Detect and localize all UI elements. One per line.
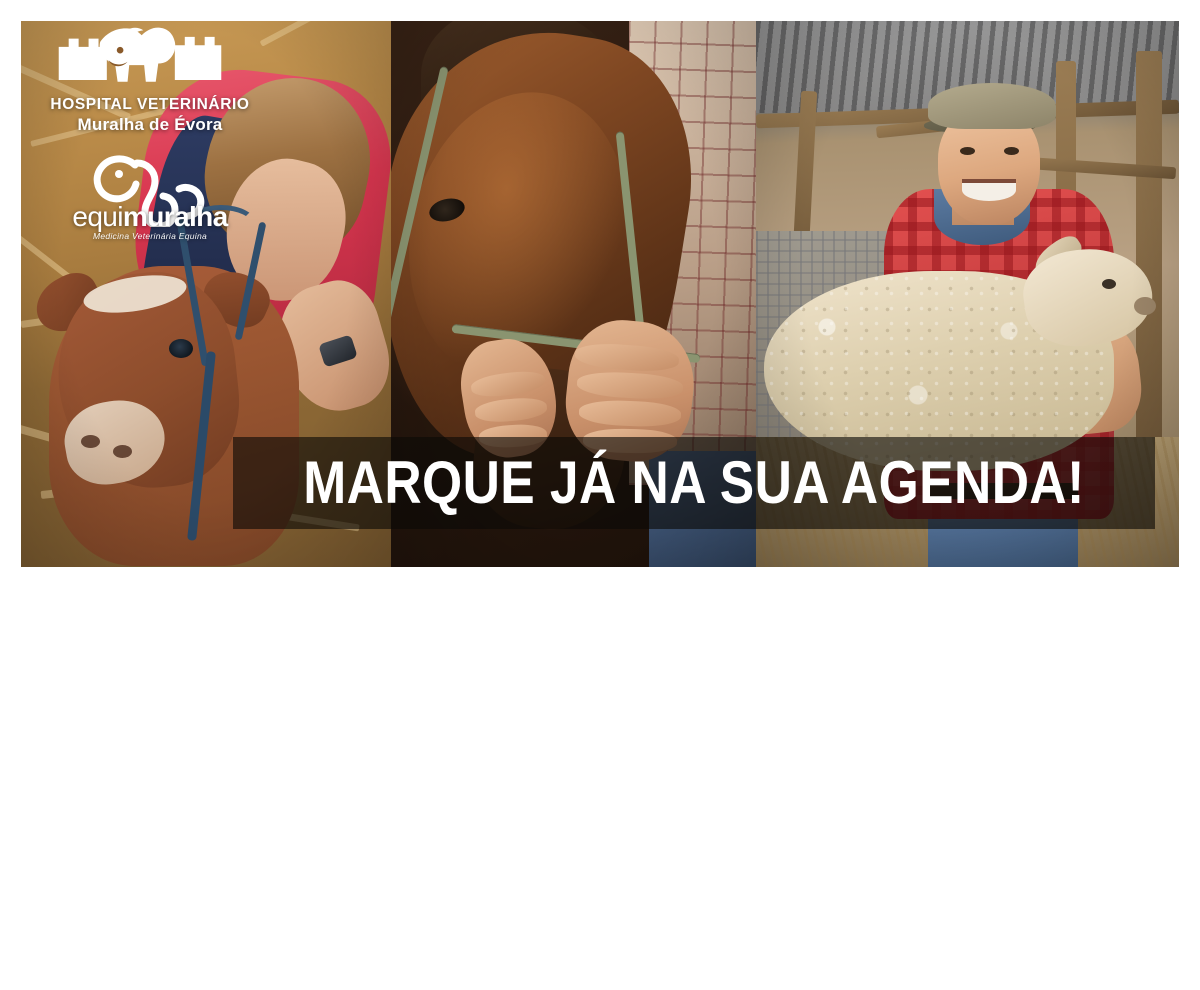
hospital-logo-line1: HOSPITAL VETERINÁRIO bbox=[40, 96, 260, 114]
equimuralha-tagline: Medicina Veterinária Equina bbox=[40, 231, 260, 241]
logo-block: HOSPITAL VETERINÁRIO Muralha de Évora eq… bbox=[40, 22, 260, 241]
bull-castle-wall-logo-icon bbox=[56, 22, 224, 90]
equimuralha-wordmark: equimuralha bbox=[40, 201, 260, 233]
title-zone: XI JORNADAS HOSPITAL VETERINÁRIO MURALHA… bbox=[0, 575, 1200, 990]
equimuralha-wordmark-bold: muralha bbox=[123, 201, 228, 232]
poster-root: HOSPITAL VETERINÁRIO Muralha de Évora eq… bbox=[0, 0, 1200, 990]
headline-text: MARQUE JÁ NA SUA AGENDA! bbox=[298, 437, 1091, 529]
hospital-logo-line2: Muralha de Évora bbox=[40, 115, 260, 135]
equimuralha-wordmark-light: equi bbox=[72, 201, 123, 232]
